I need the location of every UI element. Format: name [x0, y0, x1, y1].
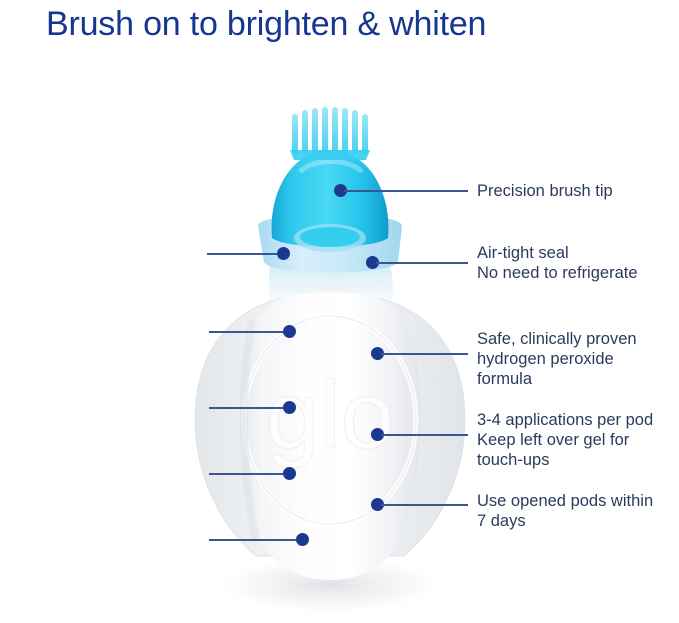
leader-line [209, 539, 304, 541]
leader-dot [283, 401, 296, 414]
leader-line [207, 253, 285, 255]
svg-text:glo: glo [266, 362, 394, 469]
leader-line [381, 353, 468, 355]
leader-dot [283, 467, 296, 480]
leader-dot [283, 325, 296, 338]
leader-line [209, 331, 291, 333]
callout-label: Precision brush tip [477, 181, 677, 201]
leader-line [209, 473, 291, 475]
leader-line [381, 434, 468, 436]
leader-line [381, 504, 468, 506]
leader-line [376, 262, 468, 264]
leader-dot [296, 533, 309, 546]
leader-line [344, 190, 468, 192]
callout-label: Use opened pods within 7 days [477, 491, 677, 531]
leader-dot [277, 247, 290, 260]
callout-label: Air-tight seal No need to refrigerate [477, 243, 679, 283]
page-title: Brush on to brighten & whiten [46, 2, 486, 46]
callout-label: Safe, clinically proven hydrogen peroxid… [477, 329, 675, 389]
svg-text:glo: glo [266, 362, 394, 469]
leader-line [209, 407, 291, 409]
callout-label: 3-4 applications per pod Keep left over … [477, 410, 679, 470]
